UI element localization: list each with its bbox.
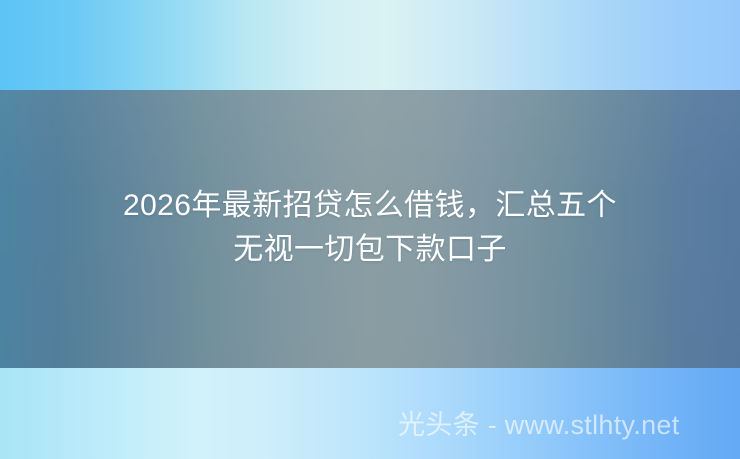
site-watermark: 光头条 - www.stlhty.net bbox=[398, 408, 680, 442]
sky-band-top bbox=[0, 0, 740, 90]
banner-image: 2026年最新招贷怎么借钱，汇总五个 无视一切包下款口子 光头条 - www.s… bbox=[0, 0, 740, 459]
banner-title: 2026年最新招贷怎么借钱，汇总五个 无视一切包下款口子 bbox=[0, 184, 740, 272]
